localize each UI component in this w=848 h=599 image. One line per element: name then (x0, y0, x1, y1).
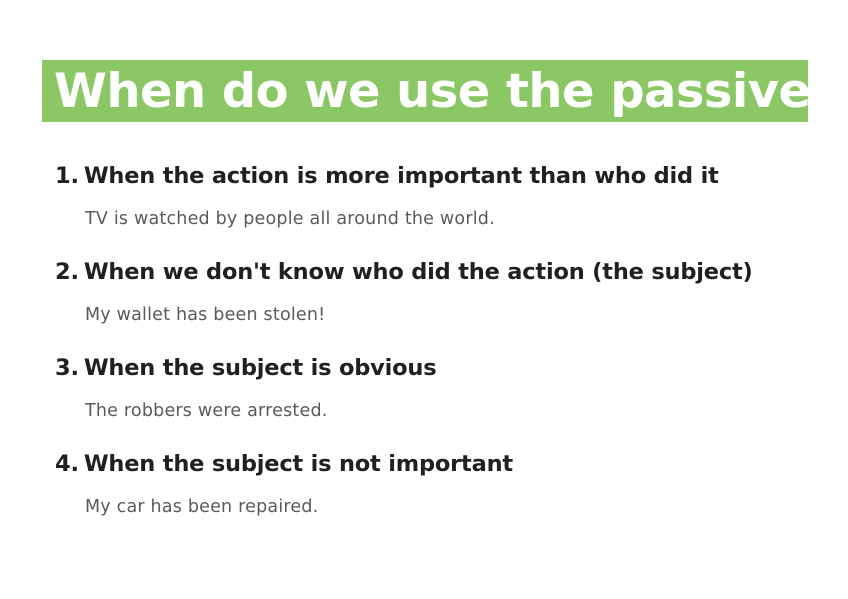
reason-heading-text-4: When the subject is not important (84, 451, 513, 477)
page-title: When do we use the passive? (54, 68, 838, 115)
reason-example-1: TV is watched by people all around the w… (85, 210, 495, 229)
list-item: 2.When we don't know who did the action … (0, 248, 848, 344)
reason-heading-2: 2.When we don't know who did the action … (55, 260, 753, 285)
reason-example-2: My wallet has been stolen! (85, 306, 325, 325)
reason-heading-text-2: When we don't know who did the action (t… (84, 259, 753, 285)
reason-number-3: 3. (55, 355, 79, 381)
slide-canvas: When do we use the passive? 1.When the a… (0, 0, 848, 599)
list-item: 1.When the action is more important than… (0, 152, 848, 248)
reason-heading-3: 3.When the subject is obvious (55, 356, 436, 381)
reason-heading-1: 1.When the action is more important than… (55, 164, 719, 189)
reason-number-2: 2. (55, 259, 79, 285)
reason-example-4: My car has been repaired. (85, 498, 318, 517)
reason-heading-text-1: When the action is more important than w… (84, 163, 719, 189)
reason-number-4: 4. (55, 451, 79, 477)
title-banner: When do we use the passive? (42, 60, 808, 122)
reason-heading-text-3: When the subject is obvious (84, 355, 437, 381)
reasons-list: 1.When the action is more important than… (0, 152, 848, 536)
reason-example-3: The robbers were arrested. (85, 402, 328, 421)
reason-number-1: 1. (55, 163, 79, 189)
list-item: 3.When the subject is obvious The robber… (0, 344, 848, 440)
reason-heading-4: 4.When the subject is not important (55, 452, 513, 477)
list-item: 4.When the subject is not important My c… (0, 440, 848, 536)
